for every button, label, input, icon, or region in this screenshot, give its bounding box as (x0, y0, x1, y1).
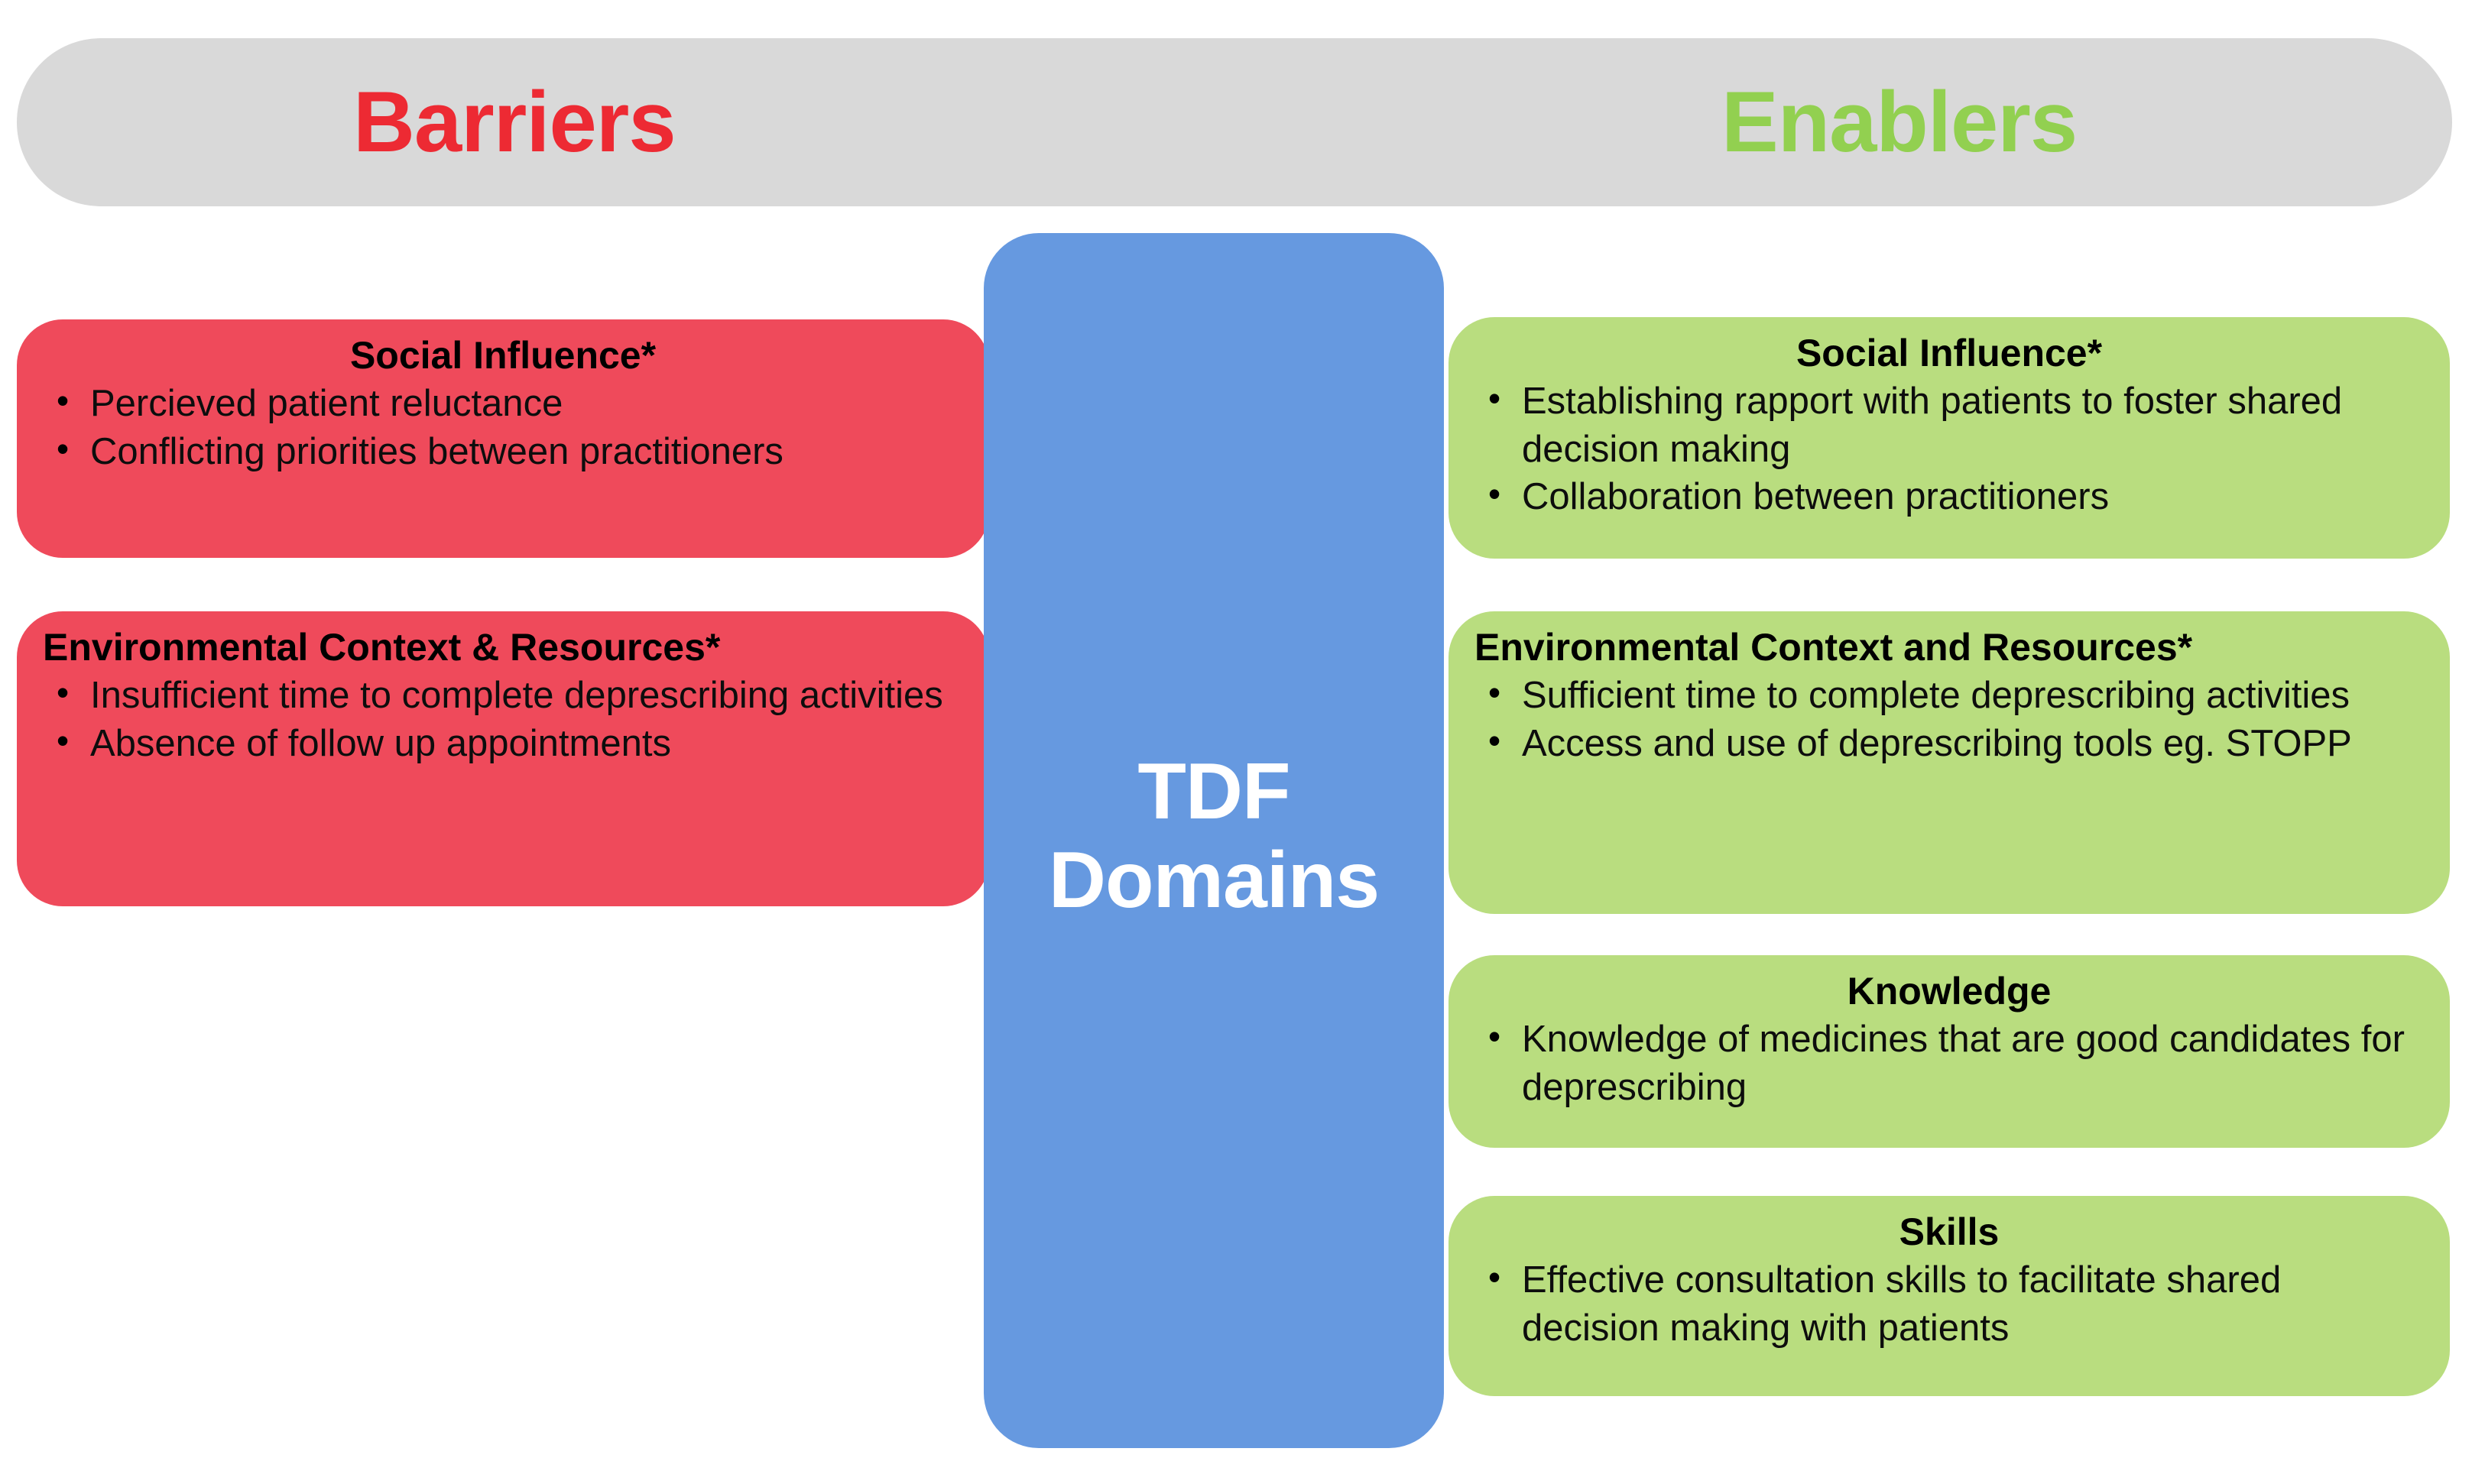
list-item: Effective consultation skills to facilit… (1474, 1256, 2424, 1352)
panel-bullet-list: Percieved patient reluctance Conflicting… (43, 380, 963, 475)
panel-title: Knowledge (1474, 969, 2424, 1014)
list-item: Access and use of deprescribing tools eg… (1474, 720, 2424, 768)
panel-bullet-list: Insufficient time to complete deprescrib… (43, 672, 963, 767)
barrier-panel-social-influence: Social Influence* Percieved patient relu… (17, 319, 989, 558)
list-item: Establishing rapport with patients to fo… (1474, 377, 2424, 473)
list-item: Knowledge of medicines that are good can… (1474, 1016, 2424, 1111)
enabler-panel-skills: Skills Effective consultation skills to … (1448, 1196, 2450, 1396)
tdf-domains-label-line1: TDF (1049, 747, 1379, 836)
tdf-domains-label-line2: Domains (1049, 836, 1379, 925)
panel-title: Skills (1474, 1210, 2424, 1255)
panel-title: Social Influence* (43, 333, 963, 378)
panel-title: Environmental Context & Resources* (43, 625, 963, 670)
list-item: Collaboration between practitioners (1474, 473, 2424, 521)
enabler-panel-knowledge: Knowledge Knowledge of medicines that ar… (1448, 955, 2450, 1148)
list-item-text: Sufficient time to complete deprescribin… (1522, 675, 2350, 716)
panel-title: Environmental Context and Resources* (1474, 625, 2424, 670)
list-item: Percieved patient reluctance (43, 380, 963, 428)
panel-bullet-list: Knowledge of medicines that are good can… (1474, 1016, 2424, 1111)
header-title-enablers: Enablers (1721, 77, 2077, 167)
list-item-text: Access and use of deprescribing tools eg… (1522, 723, 2352, 764)
barrier-panel-environmental-context: Environmental Context & Resources* Insuf… (17, 611, 989, 906)
list-item: Absence of follow up appointments (43, 720, 963, 768)
tdf-domains-label: TDF Domains (1049, 747, 1379, 935)
tdf-domains-center-box: TDF Domains (984, 233, 1444, 1448)
panel-bullet-list: Establishing rapport with patients to fo… (1474, 377, 2424, 521)
panel-title: Social Influence* (1474, 331, 2424, 376)
enabler-panel-social-influence: Social Influence* Establishing rapport w… (1448, 317, 2450, 559)
panel-bullet-list: Sufficient time to complete deprescribin… (1474, 672, 2424, 767)
header-bar: Barriers Enablers (17, 38, 2452, 206)
enabler-panel-environmental-context: Environmental Context and Resources* Suf… (1448, 611, 2450, 914)
panel-bullet-list: Effective consultation skills to facilit… (1474, 1256, 2424, 1352)
header-title-barriers: Barriers (353, 77, 676, 167)
list-item: Conflicting priorities between practitio… (43, 428, 963, 476)
list-item: Sufficient time to complete deprescribin… (1474, 672, 2424, 720)
list-item: Insufficient time to complete deprescrib… (43, 672, 963, 720)
